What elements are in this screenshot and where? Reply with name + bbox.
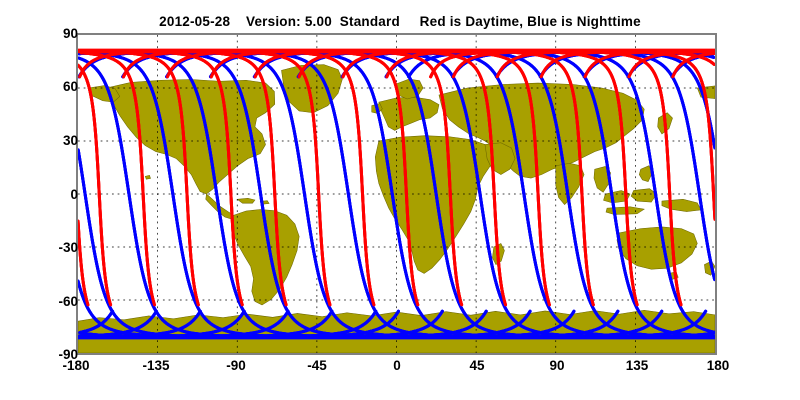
x-axis-label-neg180: -180 xyxy=(41,359,111,373)
x-axis-label-neg45: -45 xyxy=(282,359,352,373)
x-axis-label-neg90: -90 xyxy=(201,359,271,373)
y-axis-label-60: 60 xyxy=(18,80,78,94)
x-axis-label-135: 135 xyxy=(602,359,672,373)
y-axis-label-0: 0 xyxy=(18,188,78,202)
y-axis-label-neg30: -30 xyxy=(18,241,78,255)
y-axis-label-neg60: -60 xyxy=(18,295,78,309)
map-plot-area xyxy=(76,33,717,355)
y-axis-label-30: 30 xyxy=(18,134,78,148)
world-map-svg xyxy=(78,35,715,353)
x-axis-label-0: 0 xyxy=(362,359,432,373)
x-axis-label-neg135: -135 xyxy=(121,359,191,373)
x-axis-label-90: 90 xyxy=(522,359,592,373)
x-axis-label-180: 180 xyxy=(683,359,753,373)
y-axis-label-90: 90 xyxy=(18,27,78,41)
figure-title: 2012-05-28 Version: 5.00 Standard Red is… xyxy=(0,14,800,29)
ground-track-figure: 2012-05-28 Version: 5.00 Standard Red is… xyxy=(0,0,800,400)
x-axis-label-45: 45 xyxy=(442,359,512,373)
